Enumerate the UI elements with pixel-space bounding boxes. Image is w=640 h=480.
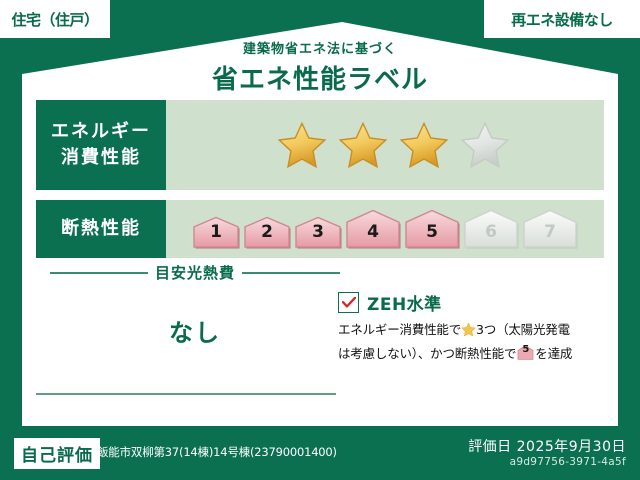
insulation-level-6: 6 [463, 209, 519, 249]
insulation-level-label: 5 [404, 222, 460, 242]
heading-rule-left [50, 272, 148, 274]
star-icon [461, 322, 476, 344]
star-icon-filled [399, 121, 449, 169]
energy-tag-line2: 消費性能 [61, 145, 141, 171]
insulation-level-3: 3 [294, 216, 342, 249]
utility-cost-bottom-rule [36, 393, 336, 395]
energy-performance-label: 住宅（住戸） 再エネ設備なし 建築物省エネ法に基づく 省エネ性能ラベル エネルギ… [0, 0, 640, 480]
insulation-level-4: 4 [345, 209, 401, 249]
insulation-performance-row: 断熱性能 1234567 [36, 200, 604, 258]
label-footer: 自己評価 飯能市双柳第37(14棟)14号棟(23790001400) 評価日 … [0, 426, 640, 480]
evaluation-id: a9d97756-3971-4a5f [510, 456, 626, 468]
inline-badge-label: 5 [517, 342, 534, 359]
title-subtitle: 建築物省エネ法に基づく [0, 38, 640, 57]
badge-building-type: 住宅（住戸） [0, 0, 110, 38]
energy-tag-line1: エネルギー [51, 119, 151, 145]
insulation-level-2: 2 [243, 216, 291, 249]
insulation-level-label: 2 [243, 222, 291, 242]
insulation-level-1: 1 [192, 216, 240, 249]
insulation-performance-tag: 断熱性能 [36, 200, 166, 258]
utility-cost-label: 目安光熱費 [155, 262, 235, 283]
star-icon-filled [338, 121, 388, 169]
insulation-level-label: 7 [522, 222, 578, 242]
energy-performance-tag: エネルギー 消費性能 [36, 100, 166, 190]
insulation-level-label: 4 [345, 222, 401, 242]
self-evaluation-badge: 自己評価 [14, 438, 100, 469]
star-icon-filled [277, 121, 327, 169]
zeh-checkbox[interactable] [338, 292, 359, 313]
energy-performance-row: エネルギー 消費性能 [36, 100, 604, 190]
zeh-desc-part1: エネルギー消費性能で [338, 322, 461, 337]
label-title-block: 建築物省エネ法に基づく 省エネ性能ラベル [0, 38, 640, 96]
star-rating [277, 121, 510, 169]
page-title: 省エネ性能ラベル [0, 59, 640, 96]
utility-cost-section: 目安光熱費 なし [50, 262, 340, 348]
evaluation-date: 評価日 2025年9月30日 [468, 436, 626, 456]
insulation-level-5: 5 [404, 209, 460, 249]
insulation-level-badge-inline: 5 [517, 345, 534, 360]
utility-cost-value: なし [50, 313, 340, 348]
zeh-desc-part4: を達成 [535, 346, 572, 361]
badge-renewable-energy: 再エネ設備なし [484, 0, 640, 38]
energy-performance-body [166, 100, 604, 190]
insulation-level-scale: 1234567 [192, 209, 578, 249]
insulation-level-label: 6 [463, 222, 519, 242]
insulation-performance-body: 1234567 [166, 200, 604, 258]
insulation-level-label: 1 [192, 222, 240, 242]
check-icon [342, 297, 356, 308]
zeh-title: ZEH水準 [367, 290, 442, 315]
utility-cost-heading: 目安光熱費 [50, 262, 340, 283]
insulation-level-label: 3 [294, 222, 342, 242]
zeh-desc-part2: 3つ（太陽光発電 [476, 322, 570, 337]
insulation-level-7: 7 [522, 209, 578, 249]
zeh-heading: ZEH水準 [338, 290, 608, 315]
zeh-section: ZEH水準 エネルギー消費性能で3つ（太陽光発電 は考慮しない）、かつ断熱性能で… [338, 290, 608, 364]
star-icon-empty [460, 121, 510, 169]
zeh-description: エネルギー消費性能で3つ（太陽光発電 は考慮しない）、かつ断熱性能で5を達成 [338, 320, 608, 364]
heading-rule-right [242, 272, 340, 274]
property-address: 飯能市双柳第37(14棟)14号棟(23790001400) [97, 444, 337, 460]
zeh-desc-part3: は考慮しない）、かつ断熱性能で [338, 346, 516, 361]
